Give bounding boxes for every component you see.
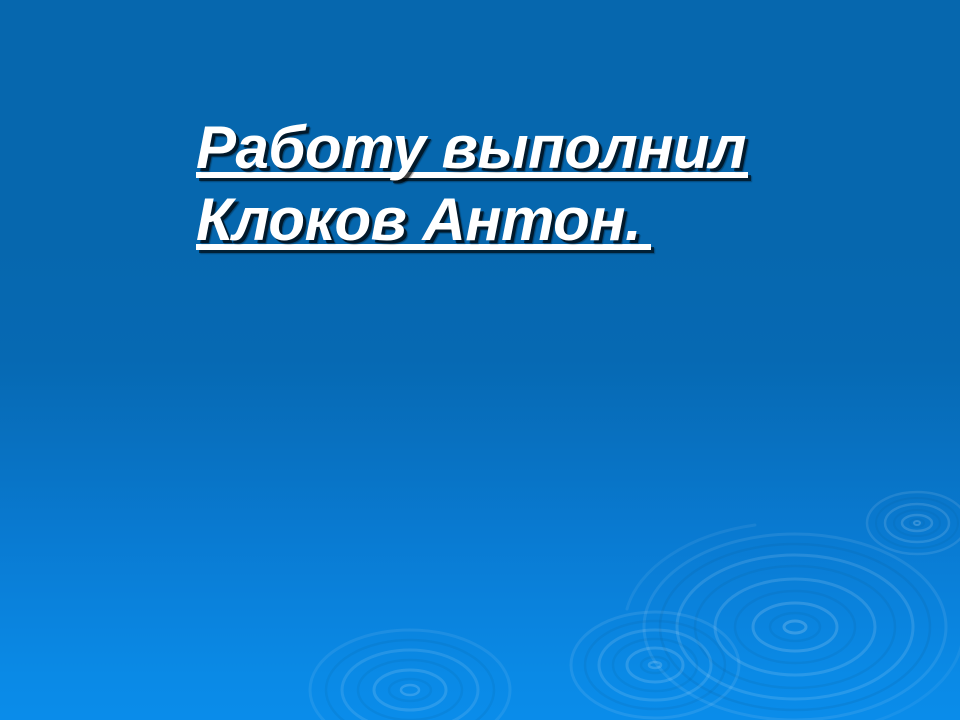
slide-title: Работу выполнил Клоков Антон.: [196, 112, 896, 256]
title-line-2-text: Клоков Антон.: [196, 186, 641, 253]
ripple-cluster-left: [310, 630, 510, 720]
ripple-cluster-large: [627, 525, 960, 720]
presentation-slide: Работу выполнил Клоков Антон.: [0, 0, 960, 720]
title-line-1-text: Работу выполнил: [196, 114, 746, 181]
water-ripples-decoration: [0, 0, 960, 720]
title-line-1: Работу выполнил: [196, 112, 896, 184]
ripple-cluster-medium: [571, 612, 739, 718]
ripple-cluster-small: [867, 492, 960, 554]
title-line-2: Клоков Антон.: [196, 184, 896, 256]
